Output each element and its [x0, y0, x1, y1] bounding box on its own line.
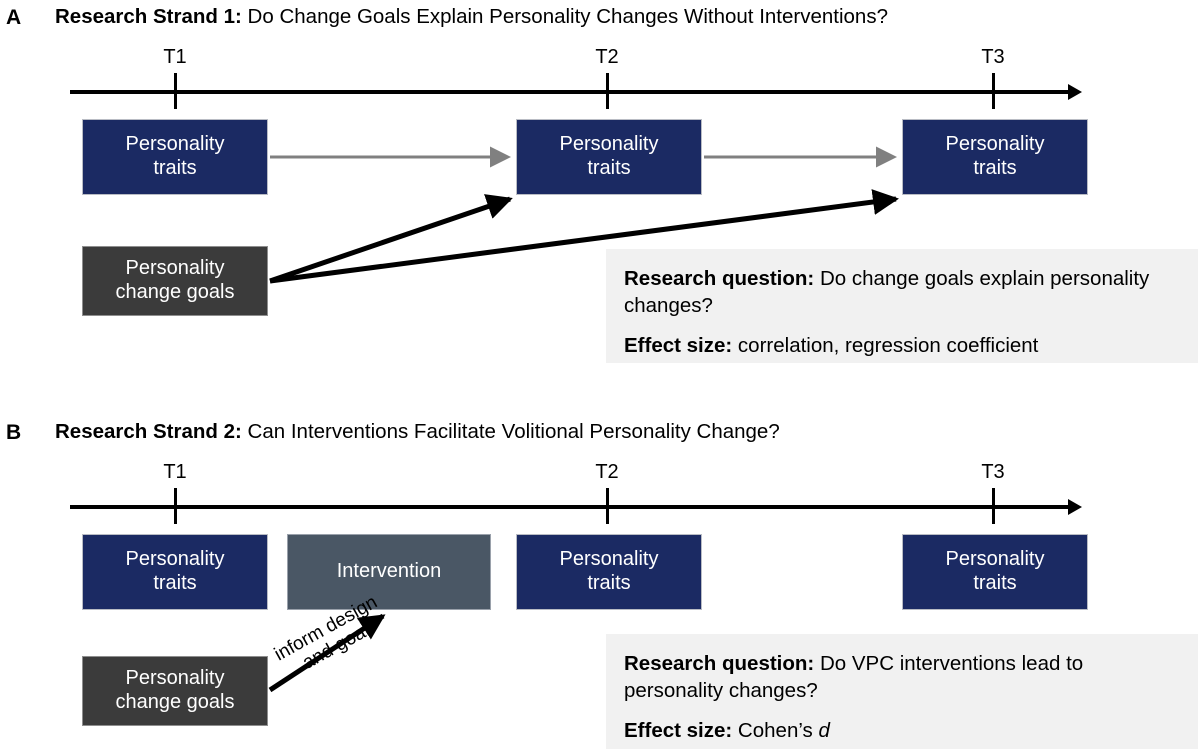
panel-a-heading: Research Strand 1: Do Change Goals Expla…	[55, 7, 888, 28]
panel-b-node-change-goals: Personality change goals	[82, 656, 268, 726]
panel-b-node-t2-traits-label: Personality traits	[560, 548, 659, 595]
panel-b-node-t1-traits: Personality traits	[82, 534, 268, 610]
panel-a-tickmark-t3	[992, 73, 995, 109]
panel-b-tick-t1: T1	[163, 462, 186, 482]
panel-a-effect-size-label: Effect size:	[624, 334, 732, 357]
panel-a-heading-question: Do Change Goals Explain Personality Chan…	[242, 5, 888, 28]
panel-a-effect-size-text: correlation, regression coefficient	[732, 334, 1038, 357]
panel-a-heading-strand: Research Strand 1:	[55, 5, 242, 28]
panel-a-timeline-arrowhead	[1068, 84, 1082, 100]
panel-b-heading-strand: Research Strand 2:	[55, 420, 242, 443]
panel-a-research-question-label: Research question:	[624, 267, 814, 290]
panel-a-node-t1-traits-label: Personality traits	[126, 133, 225, 180]
panel-b-tickmark-t1	[174, 488, 177, 524]
panel-b-effect-size: Effect size: Cohen’s d	[624, 717, 1180, 744]
panel-b-node-intervention-label: Intervention	[337, 560, 442, 584]
panel-b-label: B	[6, 422, 21, 443]
panel-b-node-t1-traits-label: Personality traits	[126, 548, 225, 595]
panel-b-research-question: Research question: Do VPC interventions …	[624, 650, 1180, 704]
panel-a-tick-t2: T2	[595, 47, 618, 67]
panel-b-node-t2-traits: Personality traits	[516, 534, 702, 610]
panel-b-effect-size-symbol: d	[818, 719, 829, 742]
panel-a-node-change-goals-label: Personality change goals	[116, 257, 235, 304]
panel-b-node-t3-traits: Personality traits	[902, 534, 1088, 610]
panel-b-tick-t3: T3	[981, 462, 1004, 482]
panel-b-tickmark-t2	[606, 488, 609, 524]
panel-a-tick-t3: T3	[981, 47, 1004, 67]
panel-b-effect-size-text: Cohen’s	[732, 719, 818, 742]
panel-b-effect-size-label: Effect size:	[624, 719, 732, 742]
panel-a-timeline-axis	[70, 90, 1072, 94]
panel-b-tickmark-t3	[992, 488, 995, 524]
panel-a-effect-size: Effect size: correlation, regression coe…	[624, 332, 1180, 359]
panel-b-node-intervention: Intervention	[287, 534, 491, 610]
panel-a-label: A	[6, 7, 21, 28]
panel-b-research-question-label: Research question:	[624, 652, 814, 675]
panel-a-node-t2-traits: Personality traits	[516, 119, 702, 195]
panel-a-node-t3-traits: Personality traits	[902, 119, 1088, 195]
figure-root: A Research Strand 1: Do Change Goals Exp…	[0, 0, 1200, 749]
panel-a-tick-t1: T1	[163, 47, 186, 67]
panel-b-node-change-goals-label: Personality change goals	[116, 667, 235, 714]
panel-a-research-question: Research question: Do change goals expla…	[624, 265, 1180, 319]
panel-a-tickmark-t2	[606, 73, 609, 109]
panel-b-node-t3-traits-label: Personality traits	[946, 548, 1045, 595]
panel-a-node-t1-traits: Personality traits	[82, 119, 268, 195]
panel-a-arrow-goals-to-t2	[270, 199, 510, 281]
panel-a-node-t3-traits-label: Personality traits	[946, 133, 1045, 180]
panel-a-node-t2-traits-label: Personality traits	[560, 133, 659, 180]
panel-a-node-change-goals: Personality change goals	[82, 246, 268, 316]
panel-b-timeline-arrowhead	[1068, 499, 1082, 515]
panel-a-info-box: Research question: Do change goals expla…	[606, 249, 1198, 363]
panel-b-info-box: Research question: Do VPC interventions …	[606, 634, 1198, 749]
panel-b-timeline-axis	[70, 505, 1072, 509]
panel-b-heading: Research Strand 2: Can Interventions Fac…	[55, 422, 780, 443]
panel-b-heading-question: Can Interventions Facilitate Volitional …	[242, 420, 780, 443]
panel-a-tickmark-t1	[174, 73, 177, 109]
panel-b-tick-t2: T2	[595, 462, 618, 482]
